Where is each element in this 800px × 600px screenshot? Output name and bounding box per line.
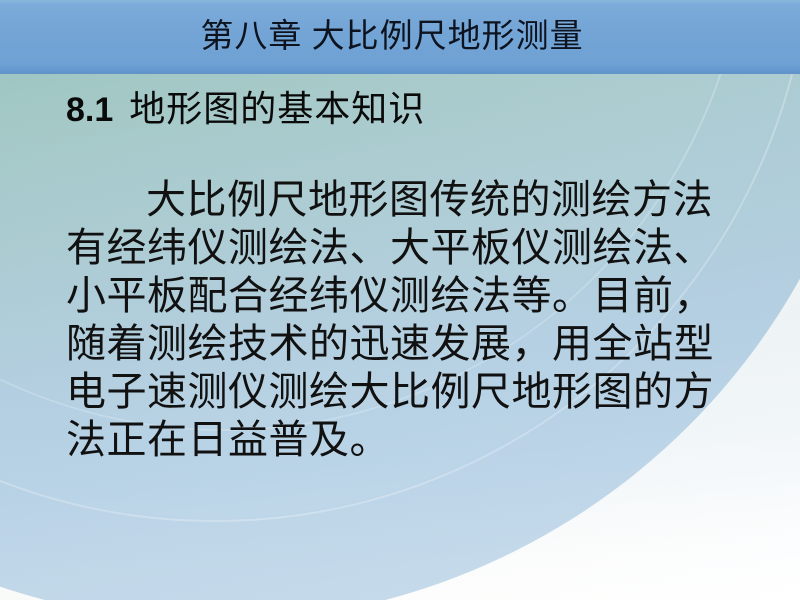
body-line: 随着测绘技术的迅速发展，用全站型: [66, 320, 766, 368]
slide-body-paragraph: 大比例尺地形图传统的测绘方法 有经纬仪测绘法、大平板仪测绘法、 小平板配合经纬仪…: [66, 176, 766, 464]
body-line: 大比例尺地形图传统的测绘方法: [66, 176, 766, 224]
section-number: 8.1: [66, 91, 113, 129]
slide-title: 第八章 大比例尺地形测量: [0, 0, 800, 74]
body-line: 电子速测仪测绘大比例尺地形图的方: [66, 368, 766, 416]
section-heading: 8.1地形图的基本知识: [66, 80, 425, 132]
body-line: 有经纬仪测绘法、大平板仪测绘法、: [66, 224, 766, 272]
body-line: 法正在日益普及。: [66, 416, 766, 464]
section-heading-text: 地形图的基本知识: [129, 89, 425, 129]
body-line: 小平板配合经纬仪测绘法等。目前，: [66, 272, 766, 320]
slide-title-band: 第八章 大比例尺地形测量: [0, 0, 800, 74]
presentation-slide: 第八章 大比例尺地形测量 8.1地形图的基本知识 大比例尺地形图传统的测绘方法 …: [0, 0, 800, 600]
